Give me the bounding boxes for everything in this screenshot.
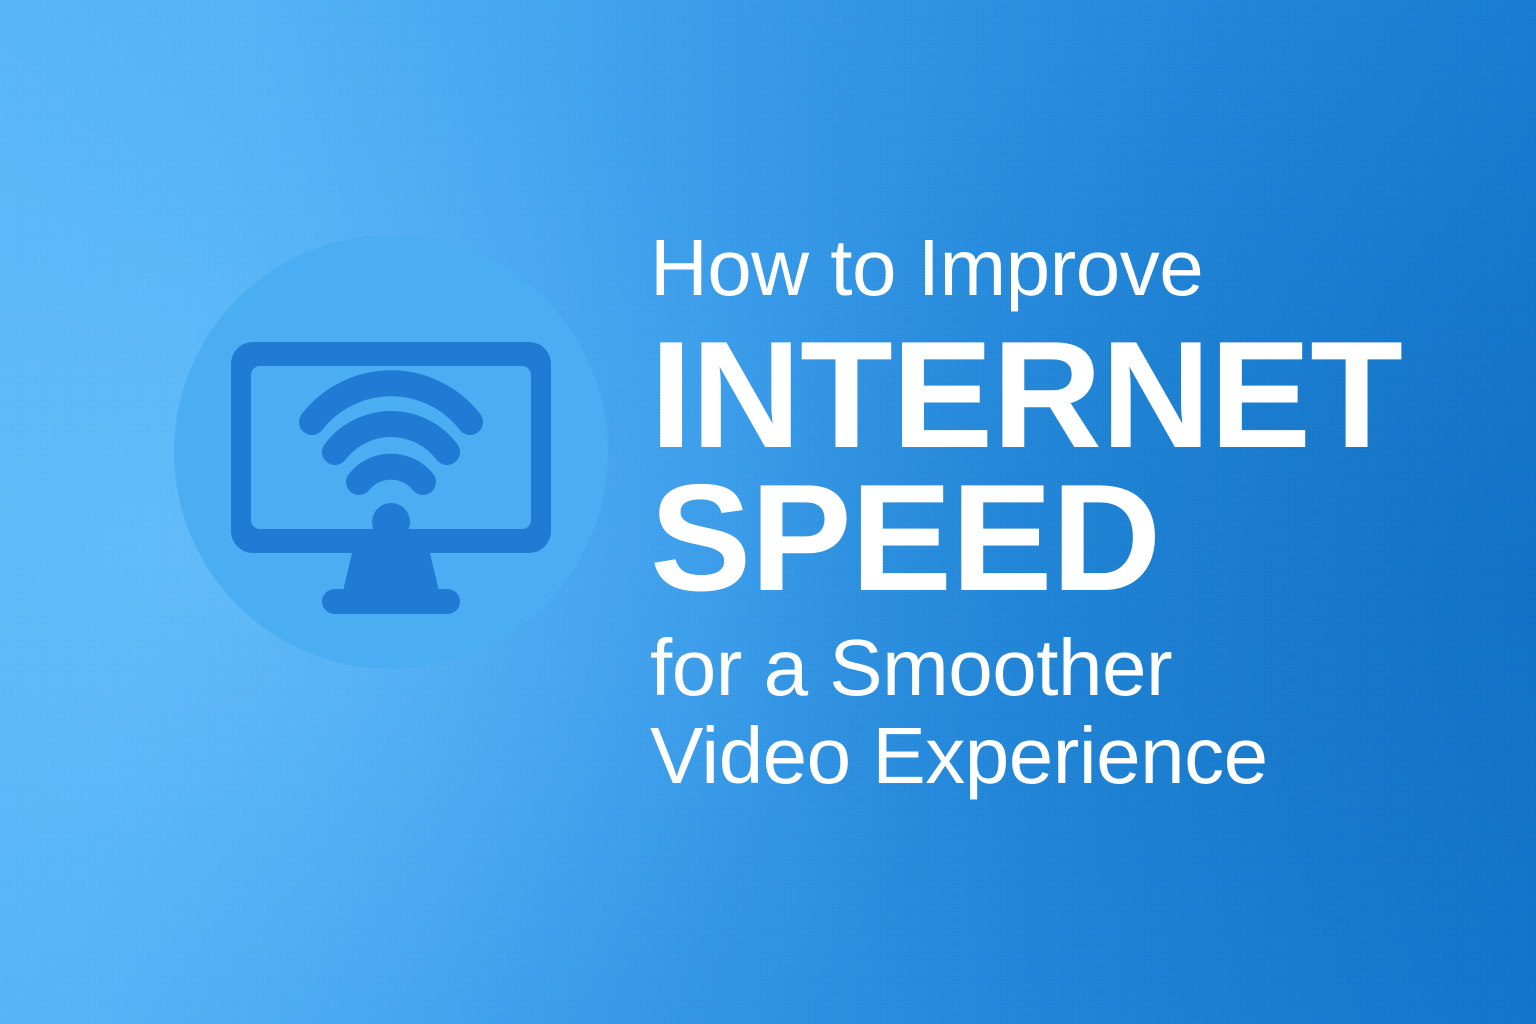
headline-line-2: INTERNET [650, 324, 1470, 467]
monitor-wifi-icon [174, 235, 608, 669]
monitor-stand-neck [343, 553, 439, 591]
wifi-dot [372, 503, 410, 541]
headline-line-1: How to Improve [650, 228, 1470, 308]
headline-line-5: Video Experience [650, 716, 1470, 796]
headline-line-4: for a Smoother [650, 628, 1470, 708]
monitor-stand-base [322, 589, 460, 614]
headline-line-3: SPEED [650, 467, 1470, 610]
headline-block: How to Improve INTERNET SPEED for a Smoo… [650, 228, 1470, 796]
banner-canvas: How to Improve INTERNET SPEED for a Smoo… [0, 0, 1536, 1024]
